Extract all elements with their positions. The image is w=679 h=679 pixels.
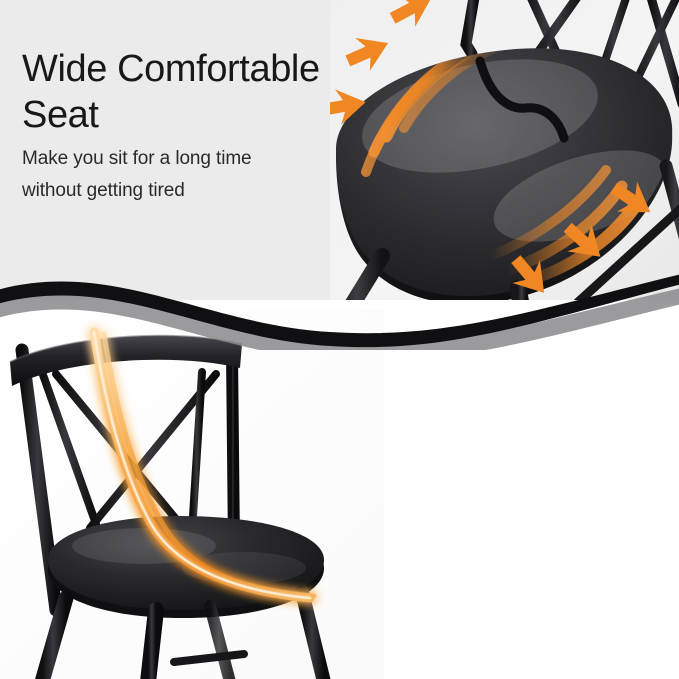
seat-photo-artwork <box>330 0 679 318</box>
seat-closeup-photo <box>330 0 679 318</box>
product-feature-infographic: Wide Comfortable Seat Make you sit for a… <box>0 0 679 679</box>
seat-feature-section: Wide Comfortable Seat Make you sit for a… <box>0 0 679 318</box>
seat-feature-title: Wide Comfortable Seat <box>22 46 320 138</box>
backrest-photo-artwork <box>0 310 384 679</box>
backrest-feature-section: Ergonomic High Backrest Fit your body sh… <box>0 300 679 679</box>
backrest-feature-title: Ergonomic High Backrest <box>268 672 642 679</box>
seat-feature-subtitle: Make you sit for a long time without get… <box>22 143 252 207</box>
backrest-chair-photo <box>0 310 384 679</box>
